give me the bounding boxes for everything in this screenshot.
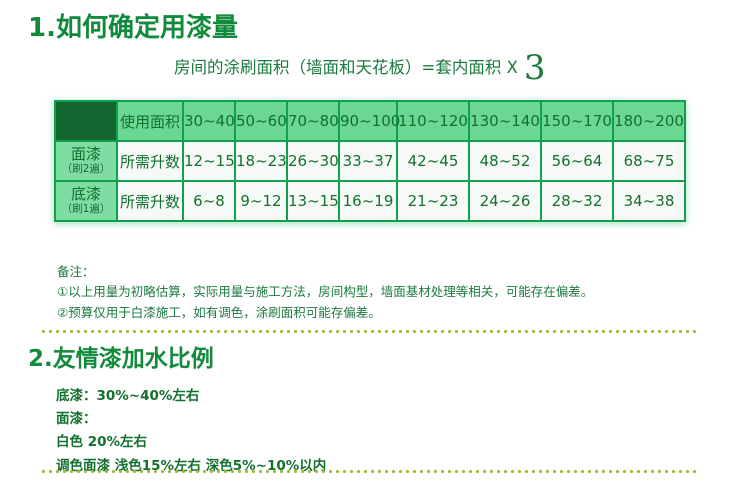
row-head-topcoat: 面漆 （刷2遍） — [55, 141, 117, 181]
cell-value: 26~30 — [287, 141, 339, 181]
dotted-divider-bottom — [40, 470, 700, 473]
cell-value: 42~45 — [397, 141, 469, 181]
note-item-1: ①以上用量为初略估算，实际用量与施工方法，房间构型，墙面基材处理等相关，可能存在… — [57, 282, 593, 302]
dilution-line-primer: 底漆：30%~40%左右 — [56, 385, 326, 408]
dilution-line-tinted: 调色面漆 浅色15%左右 深色5%~10%以内 — [56, 455, 326, 478]
row-head-primer: 底漆 （刷1遍） — [55, 181, 117, 221]
dilution-line-topcoat: 面漆： — [56, 408, 326, 431]
header-area-range: 110~120 — [397, 101, 469, 141]
section-2-title: 2.友情漆加水比例 — [28, 347, 214, 372]
row-metric-label: 所需升数 — [117, 181, 183, 221]
cell-value: 12~15 — [183, 141, 235, 181]
cell-value: 21~23 — [397, 181, 469, 221]
table-row: 面漆 （刷2遍） 所需升数 12~15 18~23 26~30 33~37 42… — [55, 141, 685, 181]
cell-value: 9~12 — [235, 181, 287, 221]
cell-value: 24~26 — [469, 181, 541, 221]
dilution-line-white: 白色 20%左右 — [56, 431, 326, 454]
header-area-range: 130~140 — [469, 101, 541, 141]
cell-value: 33~37 — [339, 141, 397, 181]
cell-value: 34~38 — [613, 181, 685, 221]
section-1-title: 1.如何确定用漆量 — [28, 14, 238, 43]
paint-area-formula: 房间的涂刷面积（墙面和天花板）=套内面积 X3 — [174, 60, 540, 77]
row-head-main: 面漆 — [56, 146, 116, 163]
formula-multiplier: 3 — [524, 48, 546, 88]
dotted-divider-top — [40, 330, 700, 333]
paint-usage-infographic: 1.如何确定用漆量 房间的涂刷面积（墙面和天花板）=套内面积 X3 使用面积 3… — [0, 0, 739, 485]
cell-value: 13~15 — [287, 181, 339, 221]
formula-text: 房间的涂刷面积（墙面和天花板）=套内面积 X — [174, 58, 518, 77]
cell-value: 28~32 — [541, 181, 613, 221]
row-head-sub: （刷2遍） — [56, 164, 116, 176]
cell-value: 48~52 — [469, 141, 541, 181]
cell-value: 6~8 — [183, 181, 235, 221]
row-metric-label: 所需升数 — [117, 141, 183, 181]
table-header-row: 使用面积 30~40 50~60 70~80 90~100 110~120 13… — [55, 101, 685, 141]
header-area-range: 180~200 — [613, 101, 685, 141]
paint-volume-table-wrapper: 使用面积 30~40 50~60 70~80 90~100 110~120 13… — [54, 100, 684, 222]
row-head-main: 底漆 — [56, 186, 116, 203]
cell-value: 56~64 — [541, 141, 613, 181]
cell-value: 68~75 — [613, 141, 685, 181]
table-corner-cell — [55, 101, 117, 141]
table-row: 底漆 （刷1遍） 所需升数 6~8 9~12 13~15 16~19 21~23… — [55, 181, 685, 221]
header-usage-area: 使用面积 — [117, 101, 183, 141]
header-area-range: 70~80 — [287, 101, 339, 141]
note-item-2: ②预算仅用于白漆施工，如有调色，涂刷面积可能存偏差。 — [57, 303, 593, 323]
header-area-range: 150~170 — [541, 101, 613, 141]
header-area-range: 30~40 — [183, 101, 235, 141]
header-area-range: 50~60 — [235, 101, 287, 141]
cell-value: 16~19 — [339, 181, 397, 221]
notes-heading: 备注： — [57, 262, 593, 282]
notes-block: 备注： ①以上用量为初略估算，实际用量与施工方法，房间构型，墙面基材处理等相关，… — [57, 262, 593, 323]
header-area-range: 90~100 — [339, 101, 397, 141]
paint-volume-table: 使用面积 30~40 50~60 70~80 90~100 110~120 13… — [54, 100, 686, 222]
row-head-sub: （刷1遍） — [56, 204, 116, 216]
cell-value: 18~23 — [235, 141, 287, 181]
dilution-ratio-list: 底漆：30%~40%左右 面漆： 白色 20%左右 调色面漆 浅色15%左右 深… — [56, 385, 326, 478]
